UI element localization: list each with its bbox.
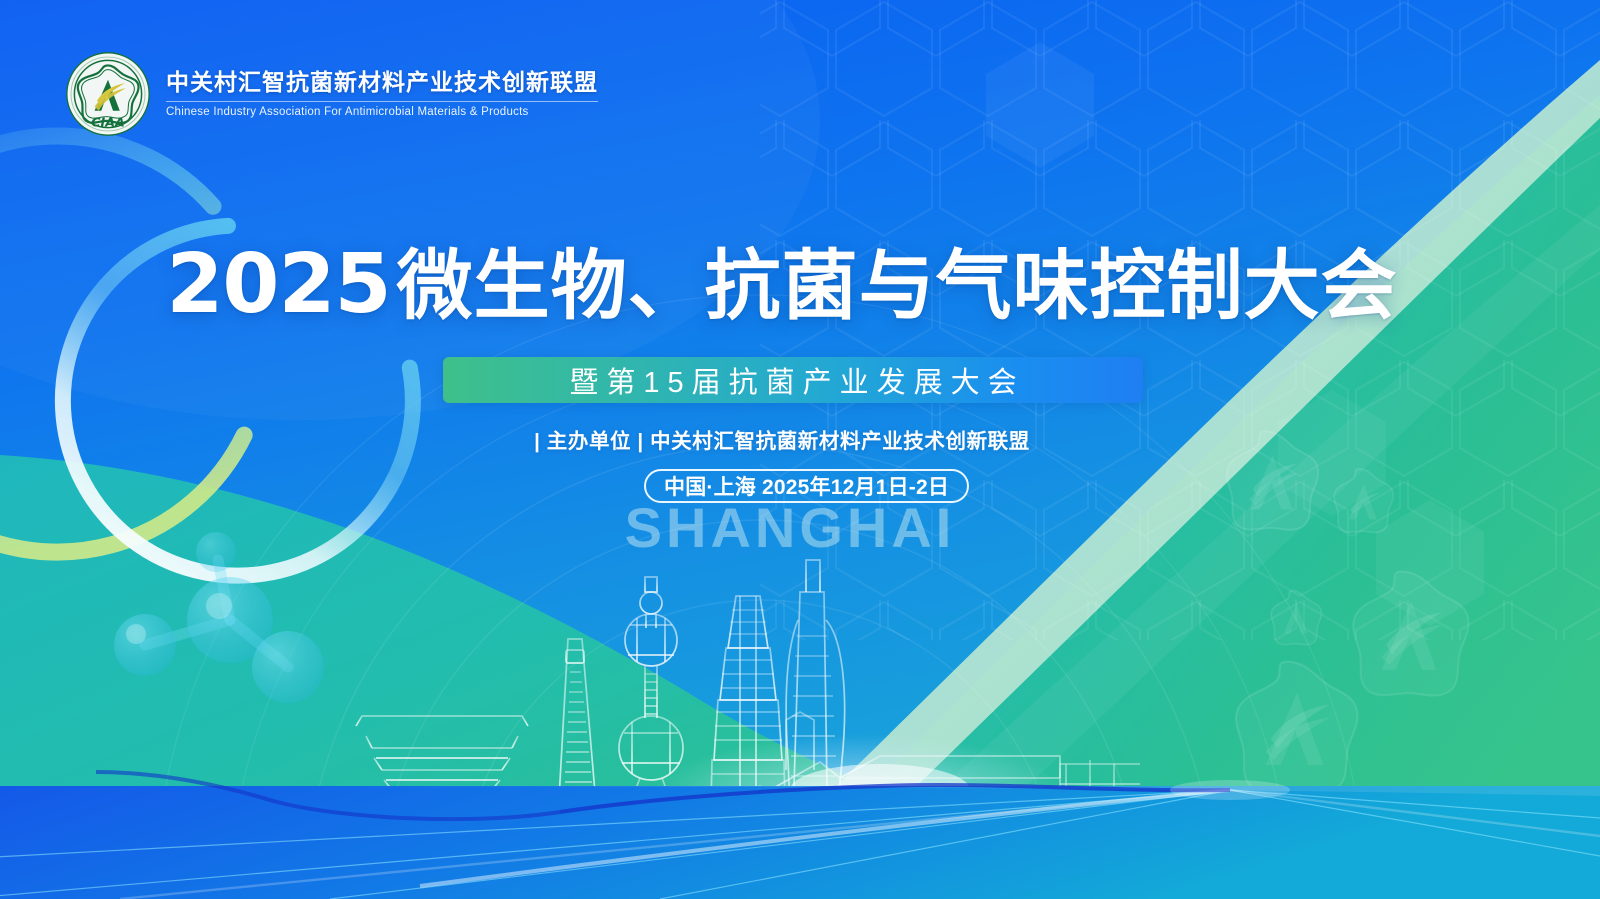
title-text-cn: 微生物、抗菌与气味控制大会 <box>397 244 1398 329</box>
hero-title-wrap: 2025微生物、抗菌与气味控制大会 <box>0 244 1600 326</box>
association-logo-block: CIAA 中关村汇智抗菌新材料产业技术创新联盟 Chinese Industry… <box>66 52 598 136</box>
association-divider <box>166 101 598 102</box>
host-organization-line: | 主办单位 | 中关村汇智抗菌新材料产业技术创新联盟 <box>0 424 1600 454</box>
title-year: 2025 <box>166 237 390 332</box>
association-name-block: 中关村汇智抗菌新材料产业技术创新联盟 Chinese Industry Asso… <box>166 68 598 120</box>
page-title: 2025微生物、抗菌与气味控制大会 <box>166 244 1397 326</box>
perspective-road-icon <box>0 772 1600 899</box>
ciaa-star-emblem-icon: CIAA <box>66 52 150 136</box>
logo-monogram: CIAA <box>91 115 124 130</box>
association-name-cn: 中关村汇智抗菌新材料产业技术创新联盟 <box>166 68 598 97</box>
host-organization-text: | 主办单位 | 中关村汇智抗菌新材料产业技术创新联盟 <box>534 424 1030 454</box>
subtitle-text: 暨第15届抗菌产业发展大会 <box>561 359 1024 401</box>
association-name-en: Chinese Industry Association For Antimic… <box>166 106 598 120</box>
date-location-badge: 中国·上海 2025年12月1日-2日 <box>644 469 969 503</box>
conference-banner: CIAA 中关村汇智抗菌新材料产业技术创新联盟 Chinese Industry… <box>0 0 1600 899</box>
date-location-text: 中国·上海 2025年12月1日-2日 <box>664 471 949 501</box>
subtitle-banner: 暨第15届抗菌产业发展大会 <box>443 357 1143 403</box>
